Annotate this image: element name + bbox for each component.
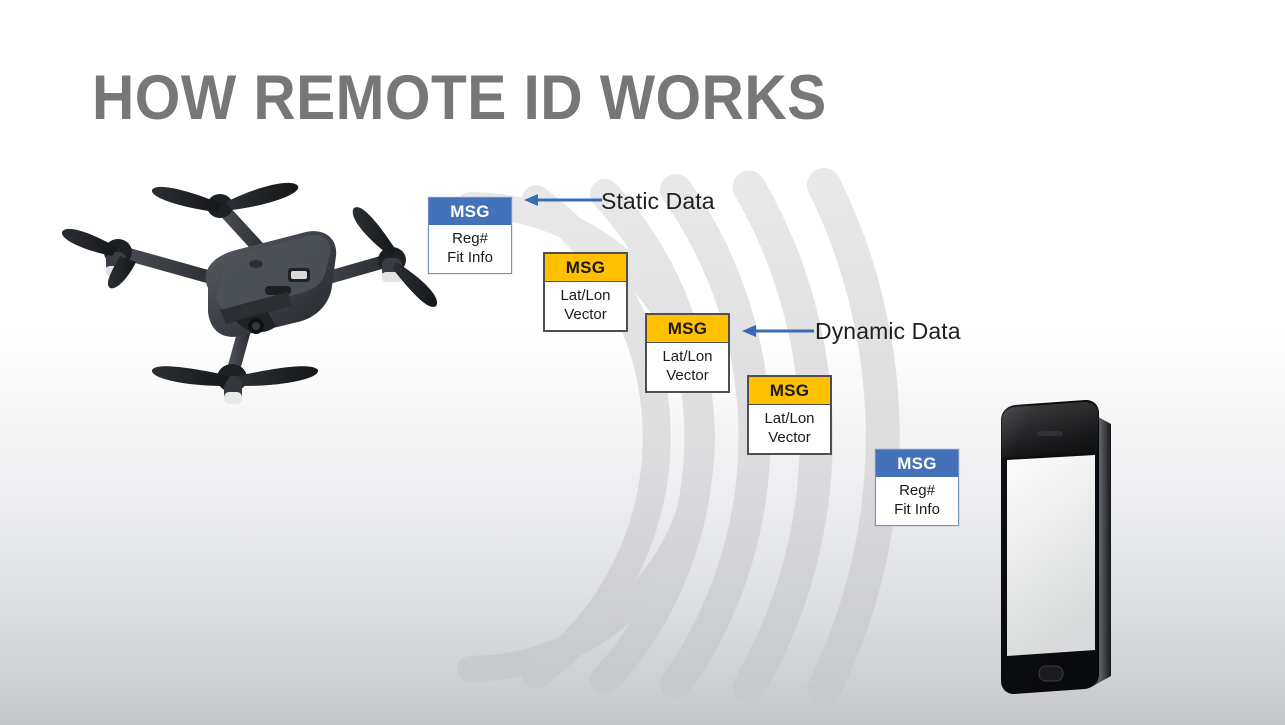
msg-card-header: MSG (647, 315, 728, 343)
msg-card-line: Fit Info (429, 248, 511, 267)
msg-card-line: Fit Info (876, 500, 958, 519)
msg-card-static-1[interactable]: MSG Reg# Fit Info (428, 197, 512, 274)
msg-card-body: Lat/Lon Vector (545, 282, 626, 330)
msg-card-line: Reg# (876, 481, 958, 500)
msg-card-dynamic-1[interactable]: MSG Lat/Lon Vector (543, 252, 628, 332)
msg-card-header: MSG (876, 450, 958, 477)
static-data-label: Static Data (601, 188, 715, 215)
quadcopter-drone-icon (60, 160, 440, 420)
msg-card-header: MSG (545, 254, 626, 282)
slide-canvas: HOW REMOTE ID WORKS (0, 0, 1285, 725)
msg-card-static-2[interactable]: MSG Reg# Fit Info (875, 449, 959, 526)
msg-card-body: Reg# Fit Info (876, 477, 958, 525)
msg-card-body: Reg# Fit Info (429, 225, 511, 273)
msg-card-line: Lat/Lon (647, 347, 728, 366)
dynamic-data-label: Dynamic Data (815, 318, 961, 345)
msg-card-line: Vector (647, 366, 728, 385)
static-data-arrow (524, 193, 602, 207)
smartphone-icon (985, 398, 1135, 698)
msg-card-header: MSG (749, 377, 830, 405)
msg-card-line: Lat/Lon (545, 286, 626, 305)
msg-card-line: Reg# (429, 229, 511, 248)
msg-card-line: Vector (545, 305, 626, 324)
msg-card-dynamic-3[interactable]: MSG Lat/Lon Vector (747, 375, 832, 455)
msg-card-body: Lat/Lon Vector (749, 405, 830, 453)
msg-card-dynamic-2[interactable]: MSG Lat/Lon Vector (645, 313, 730, 393)
page-title: HOW REMOTE ID WORKS (92, 62, 827, 134)
dynamic-data-arrow (742, 324, 814, 338)
msg-card-line: Vector (749, 428, 830, 447)
msg-card-line: Lat/Lon (749, 409, 830, 428)
msg-card-header: MSG (429, 198, 511, 225)
msg-card-body: Lat/Lon Vector (647, 343, 728, 391)
